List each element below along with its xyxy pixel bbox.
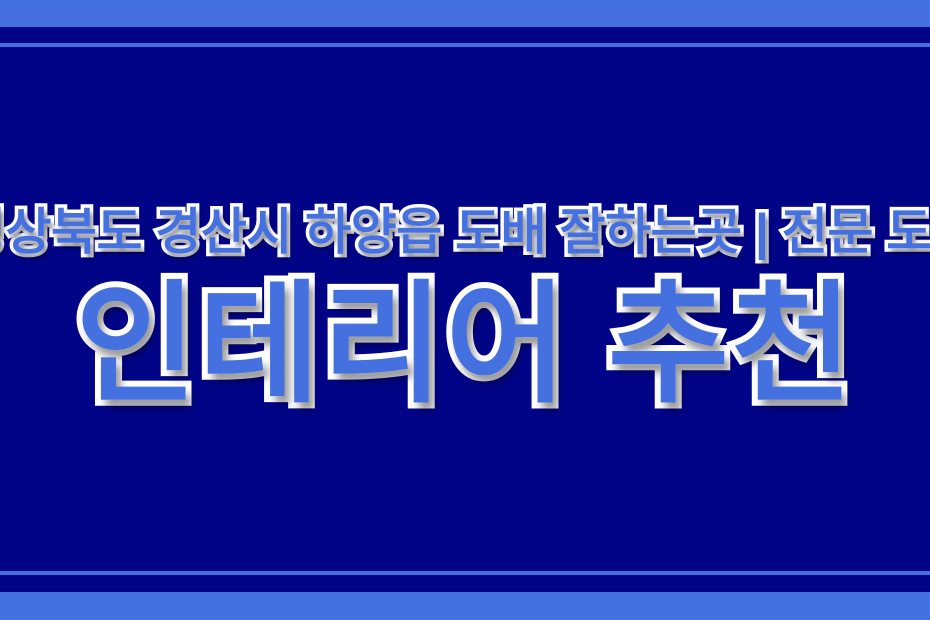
banner-subtitle: 경상북도 경산시 하양읍 도배 잘하는곳 | 전문 도배업체 xyxy=(0,203,930,261)
thumbnail-banner: 경상북도 경산시 하양읍 도배 잘하는곳 | 전문 도배업체 인테리어 추천 xyxy=(0,0,930,620)
top-accent-band xyxy=(0,0,930,27)
bottom-accent-rule xyxy=(0,571,930,575)
banner-text-stack: 경상북도 경산시 하양읍 도배 잘하는곳 | 전문 도배업체 인테리어 추천 xyxy=(0,47,930,571)
banner-title: 인테리어 추천 xyxy=(75,275,854,415)
bottom-accent-band xyxy=(0,592,930,620)
